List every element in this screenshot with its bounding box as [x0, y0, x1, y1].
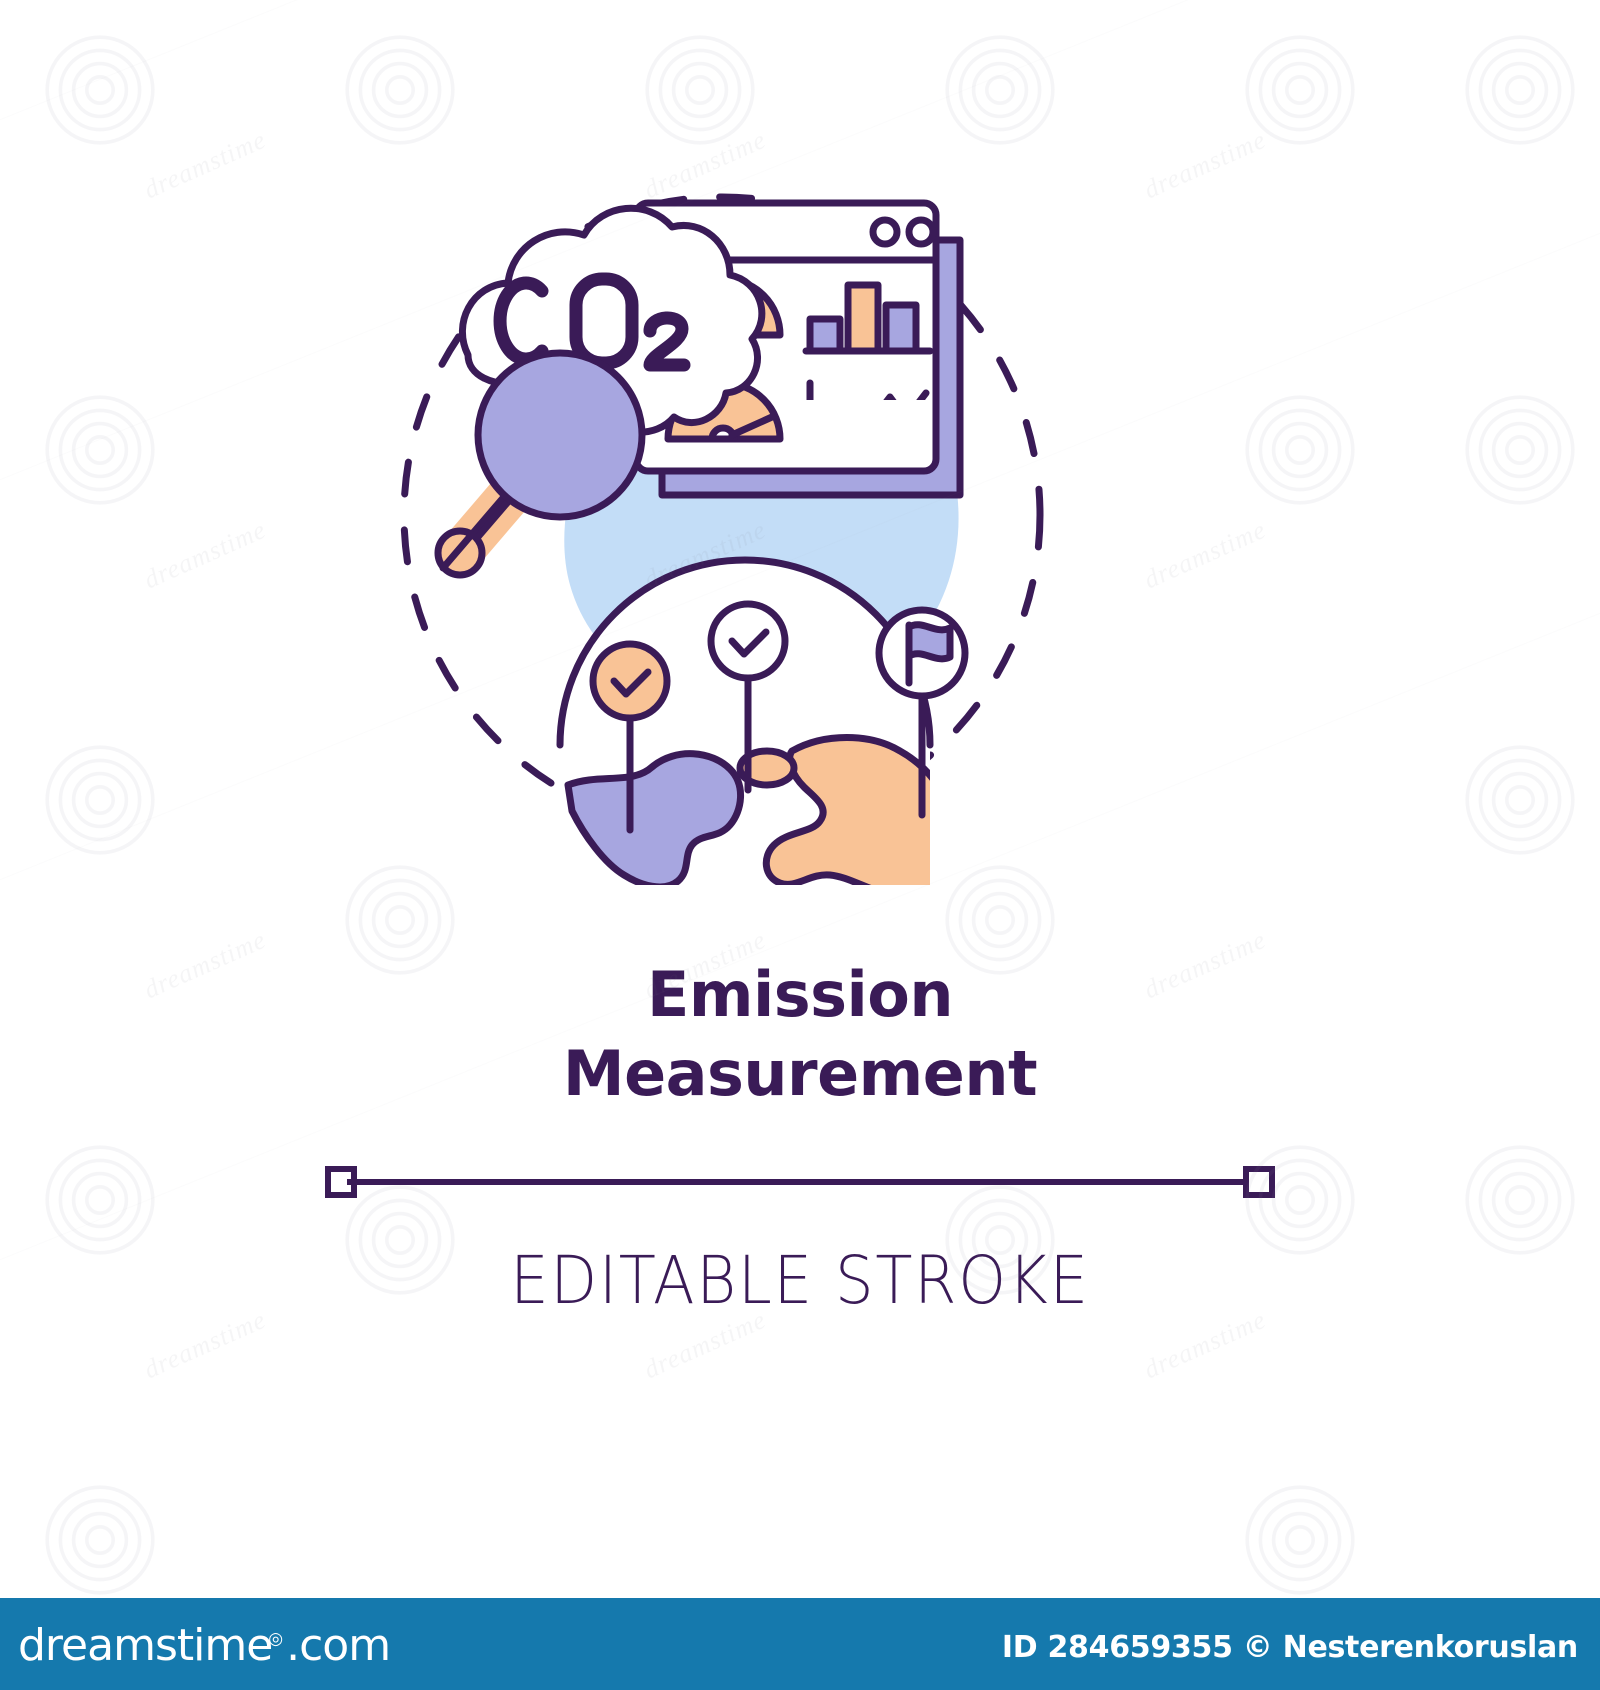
watermark-spiral-icon: [1240, 30, 1360, 150]
concept-title: Emission Measurement: [0, 955, 1600, 1114]
watermark-text: dreamstime: [140, 515, 271, 595]
title-line-2: Measurement: [0, 1034, 1600, 1113]
watermark-text: dreamstime: [1140, 515, 1271, 595]
watermark-spiral-icon: [40, 30, 160, 150]
stroke-cap-right-icon: [1243, 1166, 1275, 1198]
watermark-spiral-icon: [1460, 740, 1580, 860]
editable-stroke-block: EDITABLE STROKE: [0, 1160, 1600, 1319]
stock-illustration-page: Emission Measurement EDITABLE STROKE: [0, 0, 1600, 1690]
watermark-spiral-icon: [1460, 390, 1580, 510]
image-credit: ID 284659355 © Nesterenkoruslan: [1002, 1630, 1578, 1665]
window-dot-2: [909, 220, 933, 244]
watermark-spiral-icon: [340, 30, 460, 150]
magnifier-lens: [478, 353, 642, 517]
window-dot-1: [873, 220, 897, 244]
logo-reg-icon: ◎: [268, 1629, 282, 1649]
stroke-line: [347, 1179, 1253, 1185]
watermark-spiral-icon: [40, 390, 160, 510]
watermark-spiral-icon: [40, 1480, 160, 1600]
watermark-spiral-icon: [1240, 390, 1360, 510]
stroke-width-indicator: [325, 1160, 1275, 1204]
dreamstime-footer: dreamstime◎.com ID 284659355 © Nesterenk…: [0, 1598, 1600, 1690]
concept-illustration: [400, 185, 1080, 885]
watermark-text: dreamstime: [1140, 125, 1271, 205]
title-line-1: Emission: [0, 955, 1600, 1034]
dreamstime-logo[interactable]: dreamstime◎.com: [18, 1620, 390, 1671]
watermark-spiral-icon: [40, 740, 160, 860]
logo-suffix: .com: [286, 1620, 390, 1671]
watermark-spiral-icon: [1460, 30, 1580, 150]
watermark-spiral-icon: [1240, 1480, 1360, 1600]
watermark-hairline: [0, 0, 1600, 201]
watermark-text: dreamstime: [140, 125, 271, 205]
watermark-spiral-icon: [940, 30, 1060, 150]
watermark-spiral-icon: [640, 30, 760, 150]
editable-stroke-label: EDITABLE STROKE: [64, 1242, 1536, 1319]
logo-word: dreamstime: [18, 1620, 272, 1671]
